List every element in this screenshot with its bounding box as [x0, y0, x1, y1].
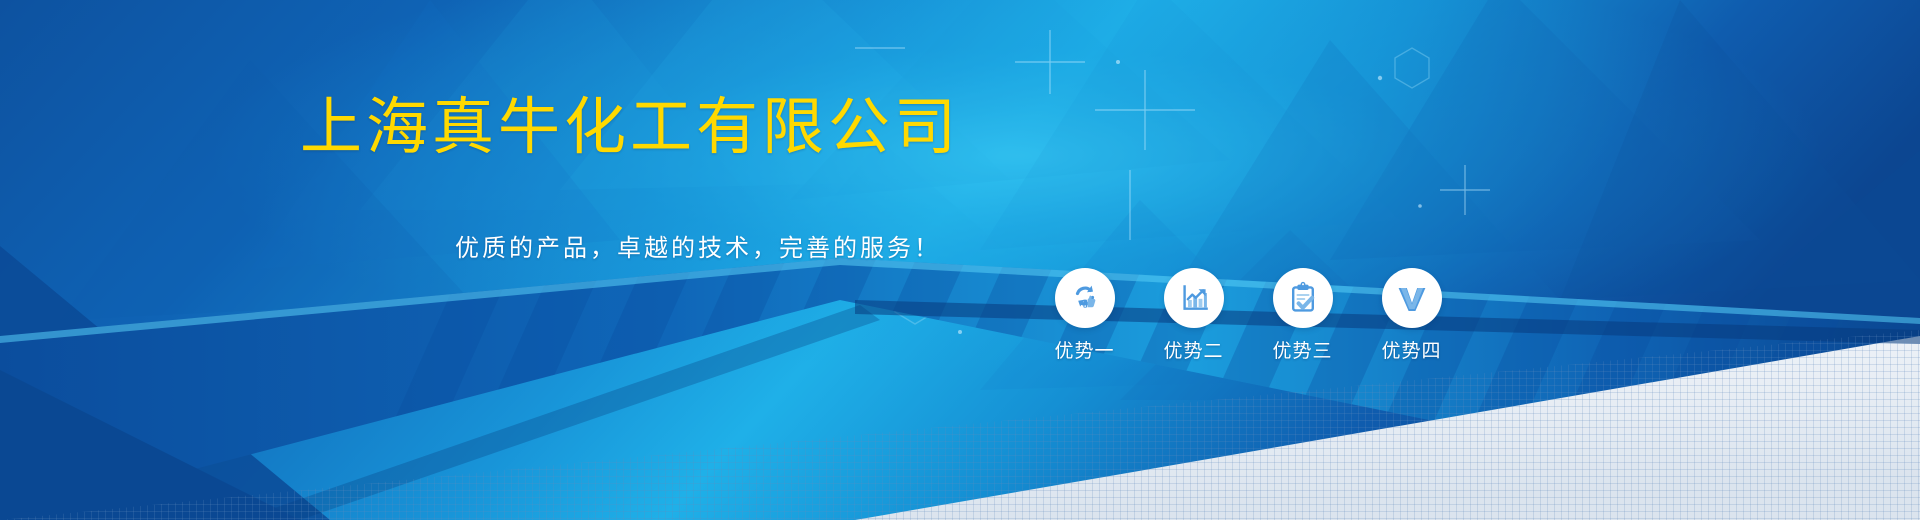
company-hero-banner: 上海真牛化工有限公司 优质的产品，卓越的技术，完善的服务！ — [0, 0, 1920, 520]
bar-chart-growth-icon — [1176, 280, 1212, 316]
feature-item-1[interactable]: 优势一 — [1030, 268, 1139, 364]
banner-content: 上海真牛化工有限公司 优质的产品，卓越的技术，完善的服务！ — [0, 0, 1920, 520]
feature-icon-badge-3 — [1273, 268, 1333, 328]
banner-slogan: 优质的产品，卓越的技术，完善的服务！ — [455, 232, 941, 266]
feature-label-4: 优势四 — [1381, 340, 1441, 364]
refresh-thumbs-up-icon — [1067, 280, 1103, 316]
feature-item-2[interactable]: 优势二 — [1139, 268, 1248, 364]
clipboard-check-icon — [1285, 280, 1321, 316]
page-title: 上海真牛化工有限公司 — [300, 92, 960, 164]
feature-item-3[interactable]: 优势三 — [1248, 268, 1357, 364]
feature-icon-badge-1 — [1055, 268, 1115, 328]
feature-icon-badge-4 — [1382, 268, 1442, 328]
feature-icon-badge-2 — [1164, 268, 1224, 328]
feature-label-3: 优势三 — [1272, 340, 1332, 364]
feature-label-1: 优势一 — [1054, 340, 1114, 364]
feature-list: 优势一 — [1030, 268, 1466, 364]
feature-item-4[interactable]: 优势四 — [1357, 268, 1466, 364]
letter-v-icon — [1394, 280, 1430, 316]
feature-label-2: 优势二 — [1163, 340, 1223, 364]
